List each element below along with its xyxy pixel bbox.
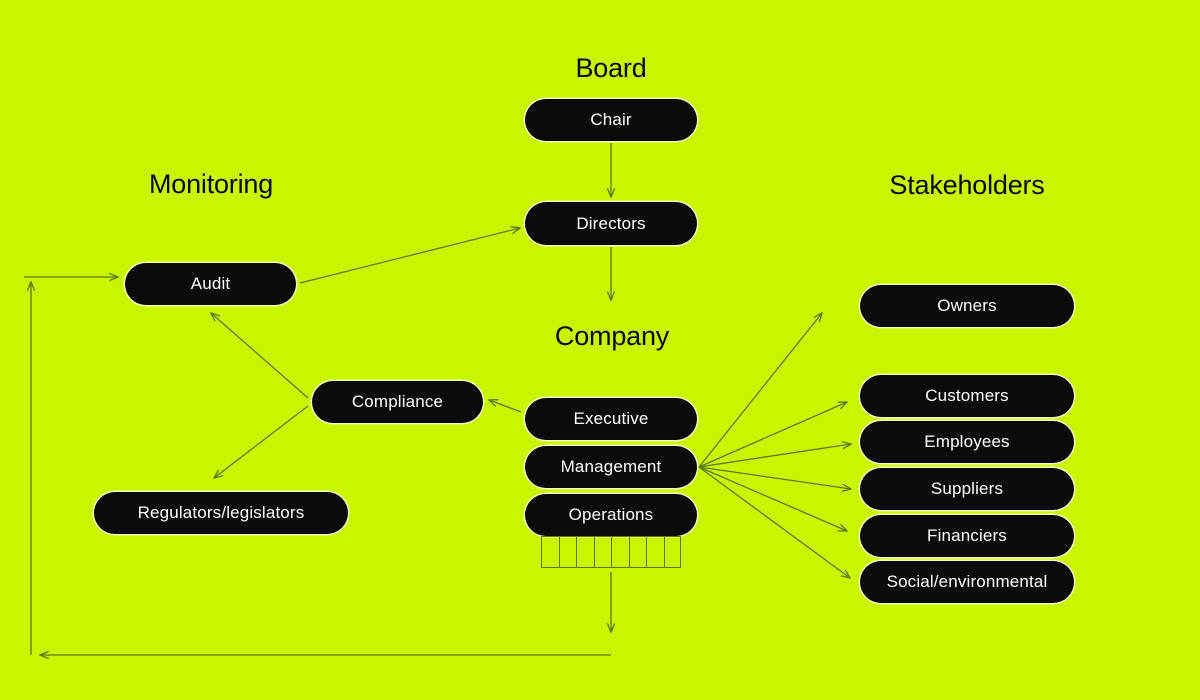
node-audit[interactable]: Audit [125,263,296,305]
arrow-audit-to-directors [300,228,520,283]
operations-unit-cell [646,536,664,568]
node-suppliers[interactable]: Suppliers [860,468,1074,510]
arrow-compliance-to-audit [211,313,308,398]
heading-stakeholders: Stakeholders [889,170,1044,201]
operations-unit-cell [594,536,612,568]
arrow-management-to-employees [699,444,851,467]
operations-units-comb [541,536,681,568]
node-social-environmental[interactable]: Social/environmental [860,561,1074,603]
node-customers[interactable]: Customers [860,375,1074,417]
node-directors[interactable]: Directors [525,202,697,245]
node-management[interactable]: Management [525,446,697,488]
node-financiers[interactable]: Financiers [860,515,1074,557]
heading-company: Company [555,321,669,352]
operations-unit-cell [559,536,577,568]
operations-unit-cell [611,536,629,568]
arrow-compliance-to-regulators [214,406,308,478]
arrow-management-to-financiers [699,467,847,531]
operations-unit-cell [664,536,682,568]
node-owners[interactable]: Owners [860,285,1074,327]
node-compliance[interactable]: Compliance [312,381,483,423]
arrow-management-to-suppliers [699,467,851,489]
arrow-management-to-owners [699,313,822,467]
operations-unit-cell [629,536,647,568]
node-chair[interactable]: Chair [525,99,697,141]
arrow-management-to-customers [699,402,847,467]
arrow-executive-to-compliance [489,400,521,412]
node-regulators-legislators[interactable]: Regulators/legislators [94,492,348,534]
node-operations[interactable]: Operations [525,494,697,536]
node-employees[interactable]: Employees [860,421,1074,463]
operations-unit-cell [541,536,559,568]
heading-board: Board [575,53,646,84]
arrow-management-to-social [699,467,850,578]
diagram-canvas: Monitoring Board Company Stakeholders Ch… [0,0,1200,700]
operations-unit-cell [576,536,594,568]
node-executive[interactable]: Executive [525,398,697,440]
heading-monitoring: Monitoring [149,169,273,200]
